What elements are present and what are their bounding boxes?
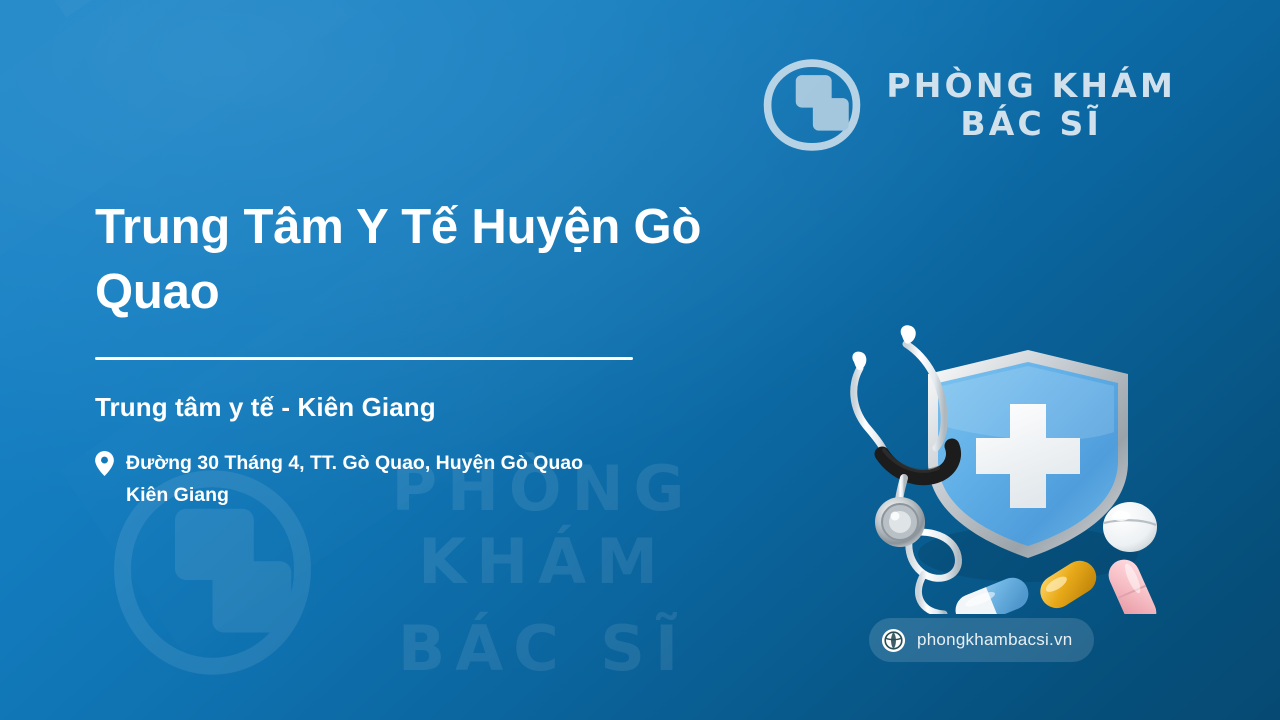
address-line-2: Kiên Giang <box>126 480 583 512</box>
brand-logo: PHÒNG KHÁM BÁC SĨ <box>760 58 1176 152</box>
watermark-line-2: BÁC SĨ <box>263 612 823 685</box>
page-title: Trung Tâm Y Tế Huyện Gò Quao <box>95 195 735 324</box>
clinic-info-card: PHÒNG KHÁM BÁC SĨ PHÒNG KHÁM BÁC SĨ Trun… <box>0 0 1280 720</box>
brand-name: PHÒNG KHÁM BÁC SĨ <box>886 67 1176 144</box>
clinic-category: Trung tâm y tế - Kiên Giang <box>95 392 795 423</box>
website-badge[interactable]: phongkhambacsi.vn <box>869 618 1094 662</box>
brand-line-1: PHÒNG KHÁM <box>886 67 1176 105</box>
globe-icon <box>881 628 906 653</box>
title-divider <box>95 357 633 360</box>
light-streak <box>0 0 978 18</box>
website-url: phongkhambacsi.vn <box>917 630 1072 650</box>
light-streak <box>0 0 633 59</box>
location-pin-icon <box>95 451 114 476</box>
brand-line-2: BÁC SĨ <box>886 105 1176 143</box>
clinic-address: Đường 30 Tháng 4, TT. Gò Quao, Huyện Gò … <box>95 448 795 511</box>
clinic-details: Trung Tâm Y Tế Huyện Gò Quao Trung tâm y… <box>95 195 795 512</box>
medical-cross-shield-icon <box>760 58 864 152</box>
clinic-address-text: Đường 30 Tháng 4, TT. Gò Quao, Huyện Gò … <box>126 448 583 511</box>
address-line-1: Đường 30 Tháng 4, TT. Gò Quao, Huyện Gò … <box>126 452 583 474</box>
round-white-tablet <box>1103 502 1157 552</box>
stethoscope-shield-pills-illustration <box>832 322 1176 614</box>
